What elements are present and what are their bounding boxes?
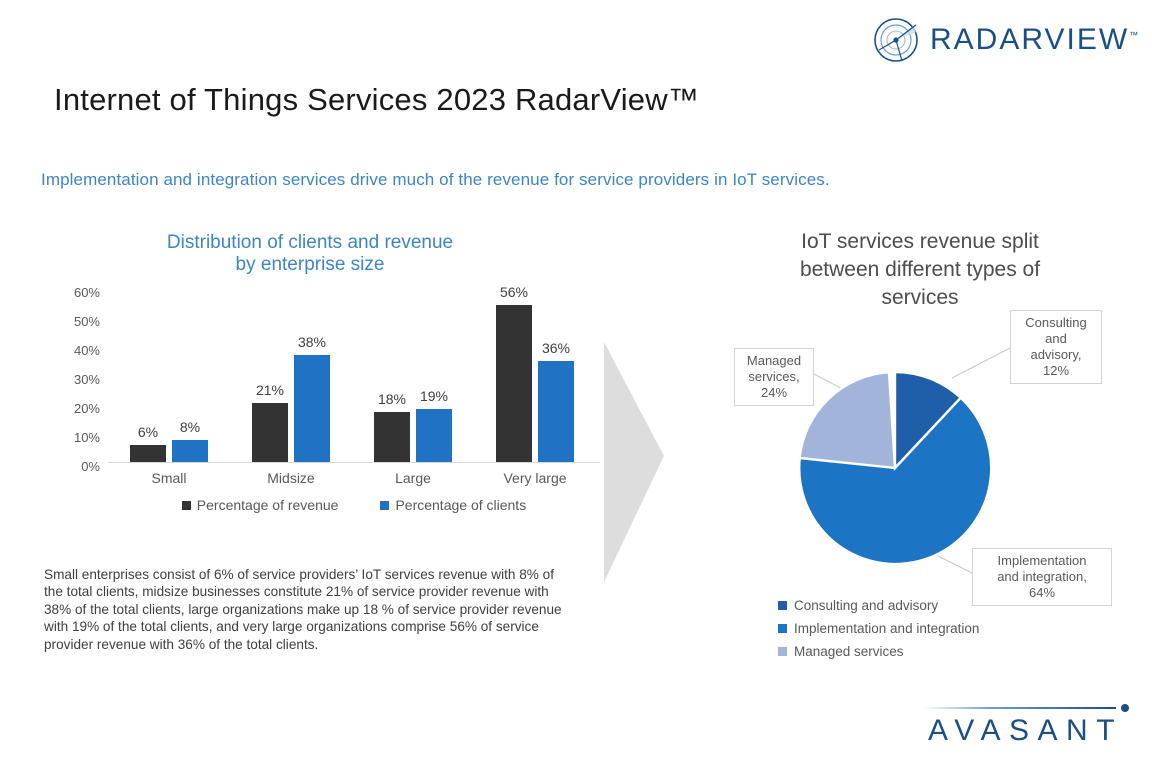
pie-legend-item-managed-services[interactable]: Managed services xyxy=(778,640,1078,663)
bar-very-large-clients[interactable]: 36% xyxy=(538,361,574,462)
radarview-name: RADARVIEW xyxy=(930,23,1129,56)
y-tick-40: 40% xyxy=(40,346,100,356)
bar-label-small-revenue: 6% xyxy=(138,424,158,440)
y-tick-30: 30% xyxy=(40,375,100,385)
radar-target-icon xyxy=(872,16,920,64)
callout-managed-line2: services, xyxy=(741,369,807,385)
callout-managed-line3: 24% xyxy=(741,385,807,401)
bar-chart-y-axis: 60% 50% 40% 30% 20% 10% 0% xyxy=(30,288,100,468)
callout-consulting-line1: Consulting xyxy=(1017,315,1095,331)
slide-canvas: RADARVIEW™ Internet of Things Services 2… xyxy=(0,0,1152,768)
pie-legend-item-implementation-and-integration[interactable]: Implementation and integration xyxy=(778,617,1078,640)
y-tick-0: 0% xyxy=(40,462,100,472)
callout-managed-line1: Managed xyxy=(741,353,807,369)
bar-small-revenue[interactable]: 6% xyxy=(130,445,166,462)
pie-chart-panel: IoT services revenue split between diffe… xyxy=(700,228,1140,678)
x-label-midsize: Midsize xyxy=(267,470,314,486)
avasant-wordmark: AVASANT xyxy=(918,714,1133,748)
bar-label-midsize-clients: 38% xyxy=(298,334,326,350)
bar-very-large-revenue[interactable]: 56% xyxy=(496,305,532,462)
bar-label-midsize-revenue: 21% xyxy=(256,382,284,398)
x-label-very-large: Very large xyxy=(503,470,566,486)
bar-label-large-revenue: 18% xyxy=(378,391,406,407)
page-title: Internet of Things Services 2023 RadarVi… xyxy=(54,82,699,118)
pie-chart-graphic xyxy=(795,368,995,568)
y-tick-60: 60% xyxy=(40,288,100,298)
bar-midsize-revenue[interactable]: 21% xyxy=(252,403,288,462)
pie-chart-legend: Consulting and advisory Implementation a… xyxy=(778,594,1078,663)
y-tick-20: 20% xyxy=(40,404,100,414)
bar-small-clients[interactable]: 8% xyxy=(172,440,208,462)
pie-legend-swatch-managed xyxy=(778,647,787,656)
bar-large-revenue[interactable]: 18% xyxy=(374,412,410,462)
bar-chart-title-line2: by enterprise size xyxy=(30,254,590,276)
y-tick-10: 10% xyxy=(40,433,100,443)
y-tick-50: 50% xyxy=(40,317,100,327)
callout-implementation-line1: Implementation xyxy=(979,553,1105,569)
bar-label-small-clients: 8% xyxy=(180,419,200,435)
pie-legend-label-implementation: Implementation and integration xyxy=(794,617,979,640)
pie-legend-swatch-implementation xyxy=(778,624,787,633)
callout-managed-services: Managed services, 24% xyxy=(734,348,814,406)
bar-label-large-clients: 19% xyxy=(420,388,448,404)
callout-implementation-line2: and integration, xyxy=(979,569,1105,585)
callout-consulting-line4: 12% xyxy=(1017,363,1095,379)
bar-midsize-clients[interactable]: 38% xyxy=(294,355,330,462)
pie-chart-title-line3: services xyxy=(740,284,1100,312)
pie-legend-item-consulting-and-advisory[interactable]: Consulting and advisory xyxy=(778,594,1078,617)
bar-chart-title-line1: Distribution of clients and revenue xyxy=(30,232,590,254)
callout-consulting-line2: and xyxy=(1017,331,1095,347)
bar-chart-legend: Percentage of revenue Percentage of clie… xyxy=(108,497,600,513)
radarview-logo: RADARVIEW™ xyxy=(872,16,1140,64)
legend-item-percentage-of-clients[interactable]: Percentage of clients xyxy=(380,497,526,513)
legend-label-revenue: Percentage of revenue xyxy=(197,497,339,513)
pie-legend-swatch-consulting xyxy=(778,601,787,610)
bar-group-very-large: 56% 36% xyxy=(496,305,574,462)
bar-label-very-large-clients: 36% xyxy=(542,340,570,356)
bar-chart-plot-area: 6% 8% 21% 38% 18% 19% xyxy=(108,294,598,462)
right-chevron-arrow-icon xyxy=(600,338,670,586)
callout-consulting-and-advisory: Consulting and advisory, 12% xyxy=(1010,310,1102,384)
radarview-tm: ™ xyxy=(1129,30,1140,40)
bar-group-small: 6% 8% xyxy=(130,440,208,462)
bar-large-clients[interactable]: 19% xyxy=(416,409,452,462)
radarview-wordmark: RADARVIEW™ xyxy=(930,23,1140,57)
bar-chart-x-axis: Small Midsize Large Very large xyxy=(108,470,600,492)
legend-swatch-clients xyxy=(380,501,389,510)
summary-paragraph: Small enterprises consist of 6% of servi… xyxy=(44,566,564,654)
legend-item-percentage-of-revenue[interactable]: Percentage of revenue xyxy=(182,497,339,513)
callout-consulting-line3: advisory, xyxy=(1017,347,1095,363)
pie-legend-label-consulting: Consulting and advisory xyxy=(794,594,938,617)
pie-chart-title: IoT services revenue split between diffe… xyxy=(740,228,1100,312)
legend-label-clients: Percentage of clients xyxy=(395,497,526,513)
bar-chart-baseline xyxy=(108,462,600,463)
avasant-logo: AVASANT xyxy=(918,700,1133,752)
bar-chart-panel: Distribution of clients and revenue by e… xyxy=(30,232,590,522)
bar-group-midsize: 21% 38% xyxy=(252,355,330,462)
bar-label-very-large-revenue: 56% xyxy=(500,284,528,300)
pie-legend-label-managed: Managed services xyxy=(794,640,904,663)
x-label-small: Small xyxy=(151,470,186,486)
bar-chart-title: Distribution of clients and revenue by e… xyxy=(30,232,590,276)
x-label-large: Large xyxy=(395,470,431,486)
page-subtitle: Implementation and integration services … xyxy=(41,170,830,190)
pie-chart-title-line2: between different types of xyxy=(740,256,1100,284)
pie-chart-title-line1: IoT services revenue split xyxy=(740,228,1100,256)
bar-group-large: 18% 19% xyxy=(374,409,452,462)
legend-swatch-revenue xyxy=(182,501,191,510)
